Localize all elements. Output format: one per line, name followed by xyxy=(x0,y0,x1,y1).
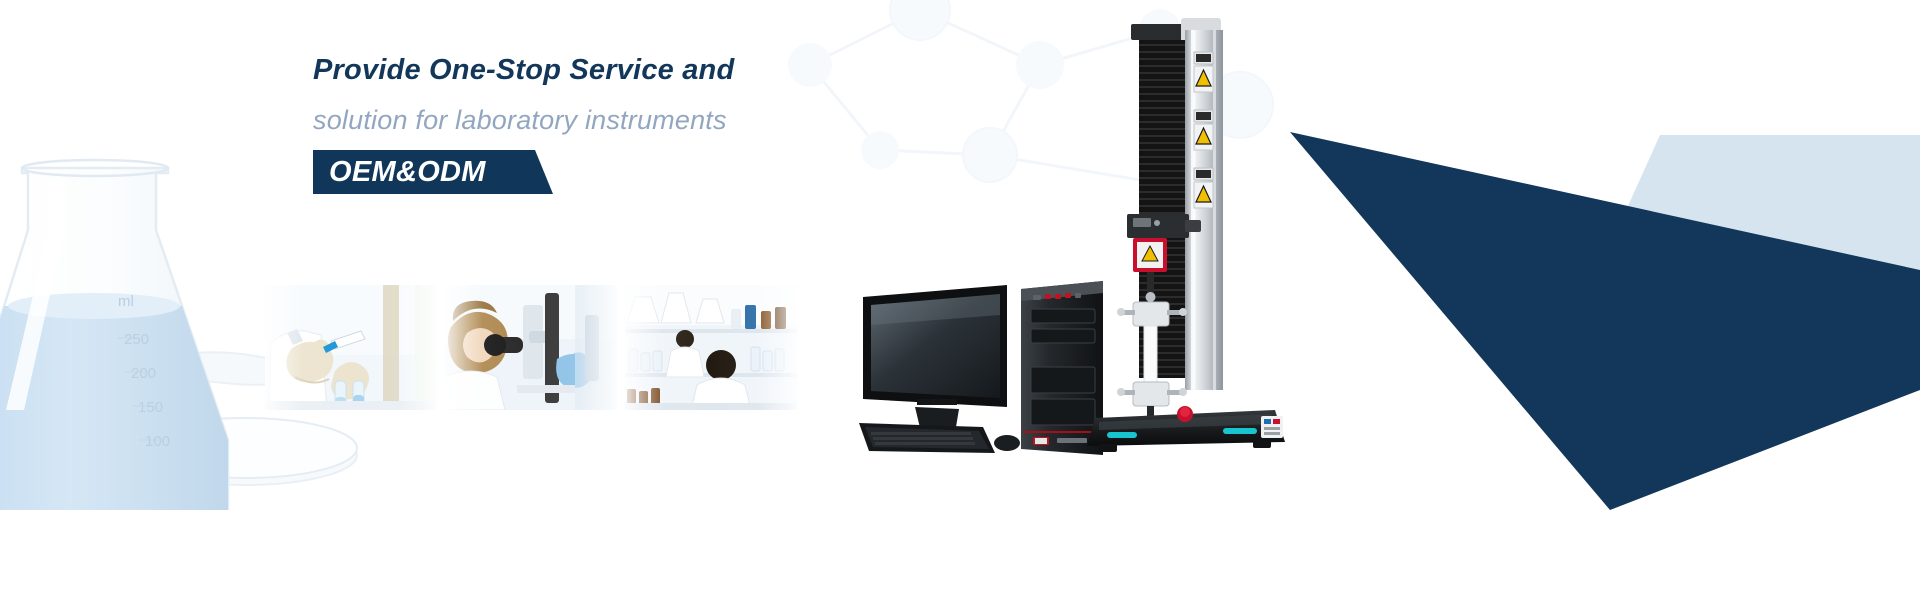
keyboard xyxy=(859,423,995,453)
warning-labels xyxy=(1194,52,1213,208)
navy-arrow-triangle xyxy=(1290,132,1920,510)
oem-odm-badge-label: OEM&ODM xyxy=(329,155,486,189)
svg-text:100: 100 xyxy=(145,433,170,450)
decorative-triangles xyxy=(1190,90,1920,510)
lab-photo-strip xyxy=(265,285,797,410)
oem-odm-badge: OEM&ODM xyxy=(313,150,553,194)
monitor xyxy=(863,285,1007,444)
machine-base xyxy=(1087,406,1285,452)
photo-laboratory-bench xyxy=(625,285,797,410)
headline-block: Provide One-Stop Service and solution fo… xyxy=(313,56,1013,194)
photo-microscope xyxy=(445,285,617,410)
svg-text:200: 200 xyxy=(131,365,156,382)
flask-graduations: ml 250 200 150 100 xyxy=(118,293,170,450)
light-blue-triangle xyxy=(1590,135,1920,340)
svg-text:150: 150 xyxy=(138,399,163,416)
hero-banner: ml 250 200 150 100 Provide One-Stop Serv… xyxy=(0,0,1920,597)
mouse xyxy=(994,435,1020,451)
flask-body: ml 250 200 150 100 xyxy=(0,160,250,510)
svg-text:ml: ml xyxy=(118,293,134,310)
universal-tensile-testing-machine xyxy=(1085,18,1295,458)
svg-text:250: 250 xyxy=(124,331,149,348)
headline-line-2: solution for laboratory instruments xyxy=(313,107,1013,134)
headline-line-1: Provide One-Stop Service and xyxy=(313,56,1013,85)
photo-pipetting-test-tubes xyxy=(265,285,437,410)
base-accent-right xyxy=(1223,428,1257,434)
base-accent-left xyxy=(1107,432,1137,438)
